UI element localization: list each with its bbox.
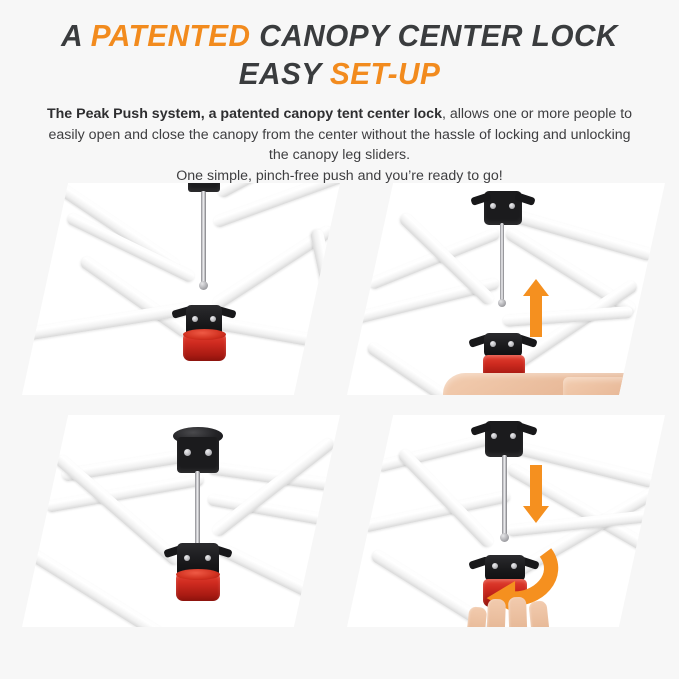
canopy-frame-illustration — [22, 415, 340, 627]
panel-grid — [0, 183, 679, 661]
canopy-frame-illustration — [22, 183, 340, 395]
product-infographic: A PATENTED CANOPY CENTER LOCK EASY SET-U… — [0, 0, 679, 679]
lock-bolt — [490, 341, 496, 347]
red-lock-knob-top — [176, 569, 220, 580]
headline-line-1: A PATENTED CANOPY CENTER LOCK — [40, 18, 638, 54]
truss-bar — [211, 316, 340, 357]
panel-4-pulling-down — [347, 415, 665, 627]
peak-hub — [177, 437, 219, 473]
arrow-down-shaft — [530, 465, 542, 507]
panel-1-closed-lock — [22, 183, 340, 395]
headline-line-1-post: CANOPY CENTER LOCK — [251, 18, 618, 53]
panel-3-lock-raised — [22, 415, 340, 627]
header: A PATENTED CANOPY CENTER LOCK EASY SET-U… — [0, 0, 679, 186]
canopy-frame-illustration — [347, 183, 665, 395]
finger — [508, 597, 528, 627]
center-rod-tip — [199, 281, 208, 290]
center-rod-tip — [498, 299, 506, 307]
lock-bolt — [192, 316, 198, 322]
truss-bar — [310, 228, 340, 395]
arrow-down-icon — [523, 465, 549, 523]
arrow-up-head — [523, 279, 549, 296]
thumb-base — [563, 377, 665, 395]
headline-line-2-accent: SET-UP — [330, 56, 440, 91]
lock-bolt — [210, 316, 216, 322]
hub-bolt — [205, 449, 212, 456]
lock-bolt — [205, 555, 211, 561]
center-rod — [201, 191, 206, 285]
gripping-hand — [465, 597, 561, 627]
description-closing-line: One simple, pinch-free push and you’re r… — [176, 168, 503, 184]
panel-2-pushing-up — [347, 183, 665, 395]
canopy-frame-illustration — [347, 415, 665, 627]
center-rod — [502, 455, 507, 537]
headline-line-1-pre: A — [61, 18, 91, 53]
center-rod-tip — [500, 533, 509, 542]
finger — [465, 606, 488, 627]
arrow-down-head — [523, 506, 549, 523]
finger — [486, 599, 506, 627]
palm — [443, 373, 665, 395]
center-rod — [500, 223, 504, 303]
headline-line-2-pre: EASY — [239, 56, 330, 91]
headline-line-1-accent: PATENTED — [91, 18, 251, 53]
lock-bolt — [184, 555, 190, 561]
finger — [528, 600, 551, 627]
center-rod — [195, 471, 200, 549]
description-bold-lead: The Peak Push system, a patented canopy … — [47, 106, 442, 122]
hub-bolt — [491, 433, 497, 439]
open-palm-hand — [443, 373, 665, 395]
arrow-up-shaft — [530, 295, 542, 337]
lock-bolt — [508, 341, 514, 347]
headline-line-2: EASY SET-UP — [40, 56, 638, 92]
hub-bolt — [509, 203, 515, 209]
truss-bar — [65, 212, 196, 284]
hub-bolt — [510, 433, 516, 439]
truss-bar — [22, 536, 168, 627]
red-lock-knob-top — [183, 329, 226, 340]
hub-bolt — [490, 203, 496, 209]
description-paragraph: The Peak Push system, a patented canopy … — [40, 104, 640, 186]
arrow-up-icon — [523, 279, 549, 337]
hub-bolt — [184, 449, 191, 456]
